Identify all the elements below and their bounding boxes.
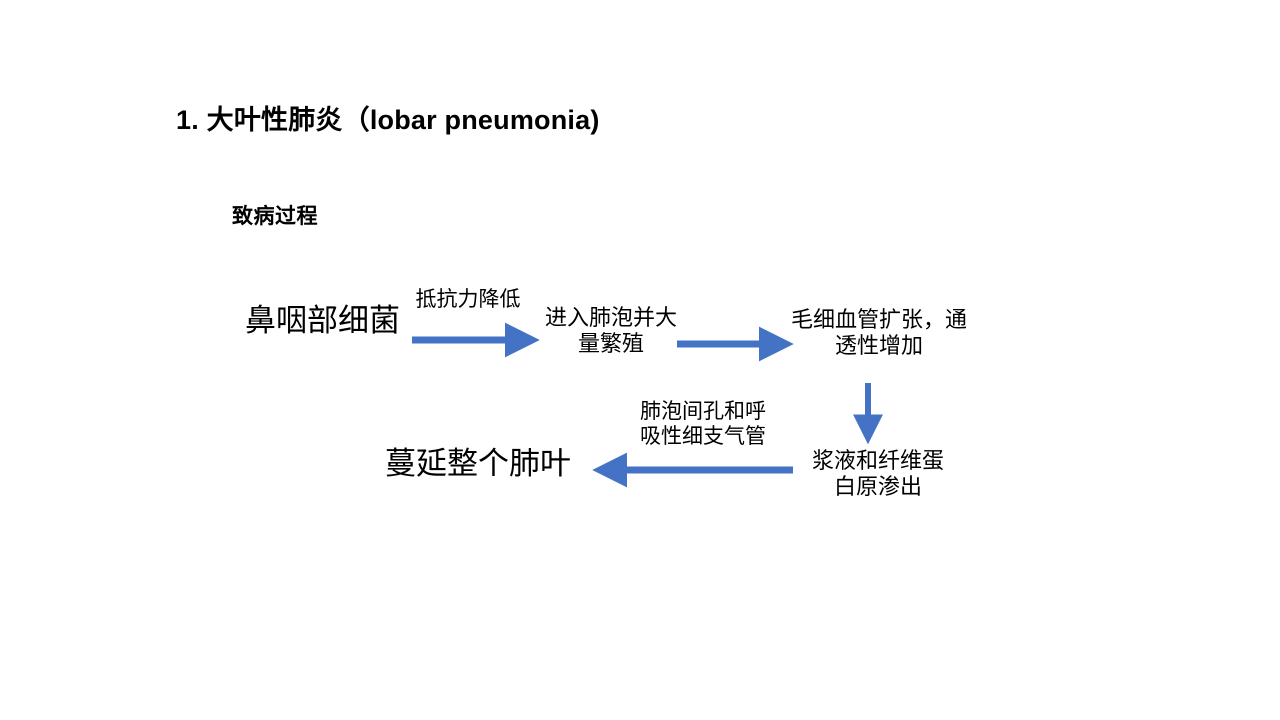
- flow-node-serous-fibrinogen-exudation: 浆液和纤维蛋 白原渗出: [793, 448, 963, 500]
- slide-canvas: 1. 大叶性肺炎（lobar pneumonia) 致病过程: [0, 0, 1280, 720]
- flow-node-nasopharyngeal-bacteria: 鼻咽部细菌: [245, 303, 400, 340]
- flowchart-pathogenesis: 鼻咽部细菌 进入肺泡并大 量繁殖 毛细血管扩张，通 透性增加 浆液和纤维蛋 白原…: [0, 0, 1280, 720]
- flow-arrow-layer: [0, 0, 1280, 720]
- flow-edge-label-alveolar-pores: 肺泡间孔和呼 吸性细支气管: [620, 400, 786, 450]
- flow-edge-label-reduced-resistance: 抵抗力降低: [406, 288, 530, 313]
- flow-node-capillary-dilation: 毛细血管扩张，通 透性增加: [778, 307, 980, 359]
- flow-node-enter-alveoli: 进入肺泡并大 量繁殖: [533, 305, 689, 357]
- flow-node-spread-entire-lobe: 蔓延整个肺叶: [385, 446, 571, 483]
